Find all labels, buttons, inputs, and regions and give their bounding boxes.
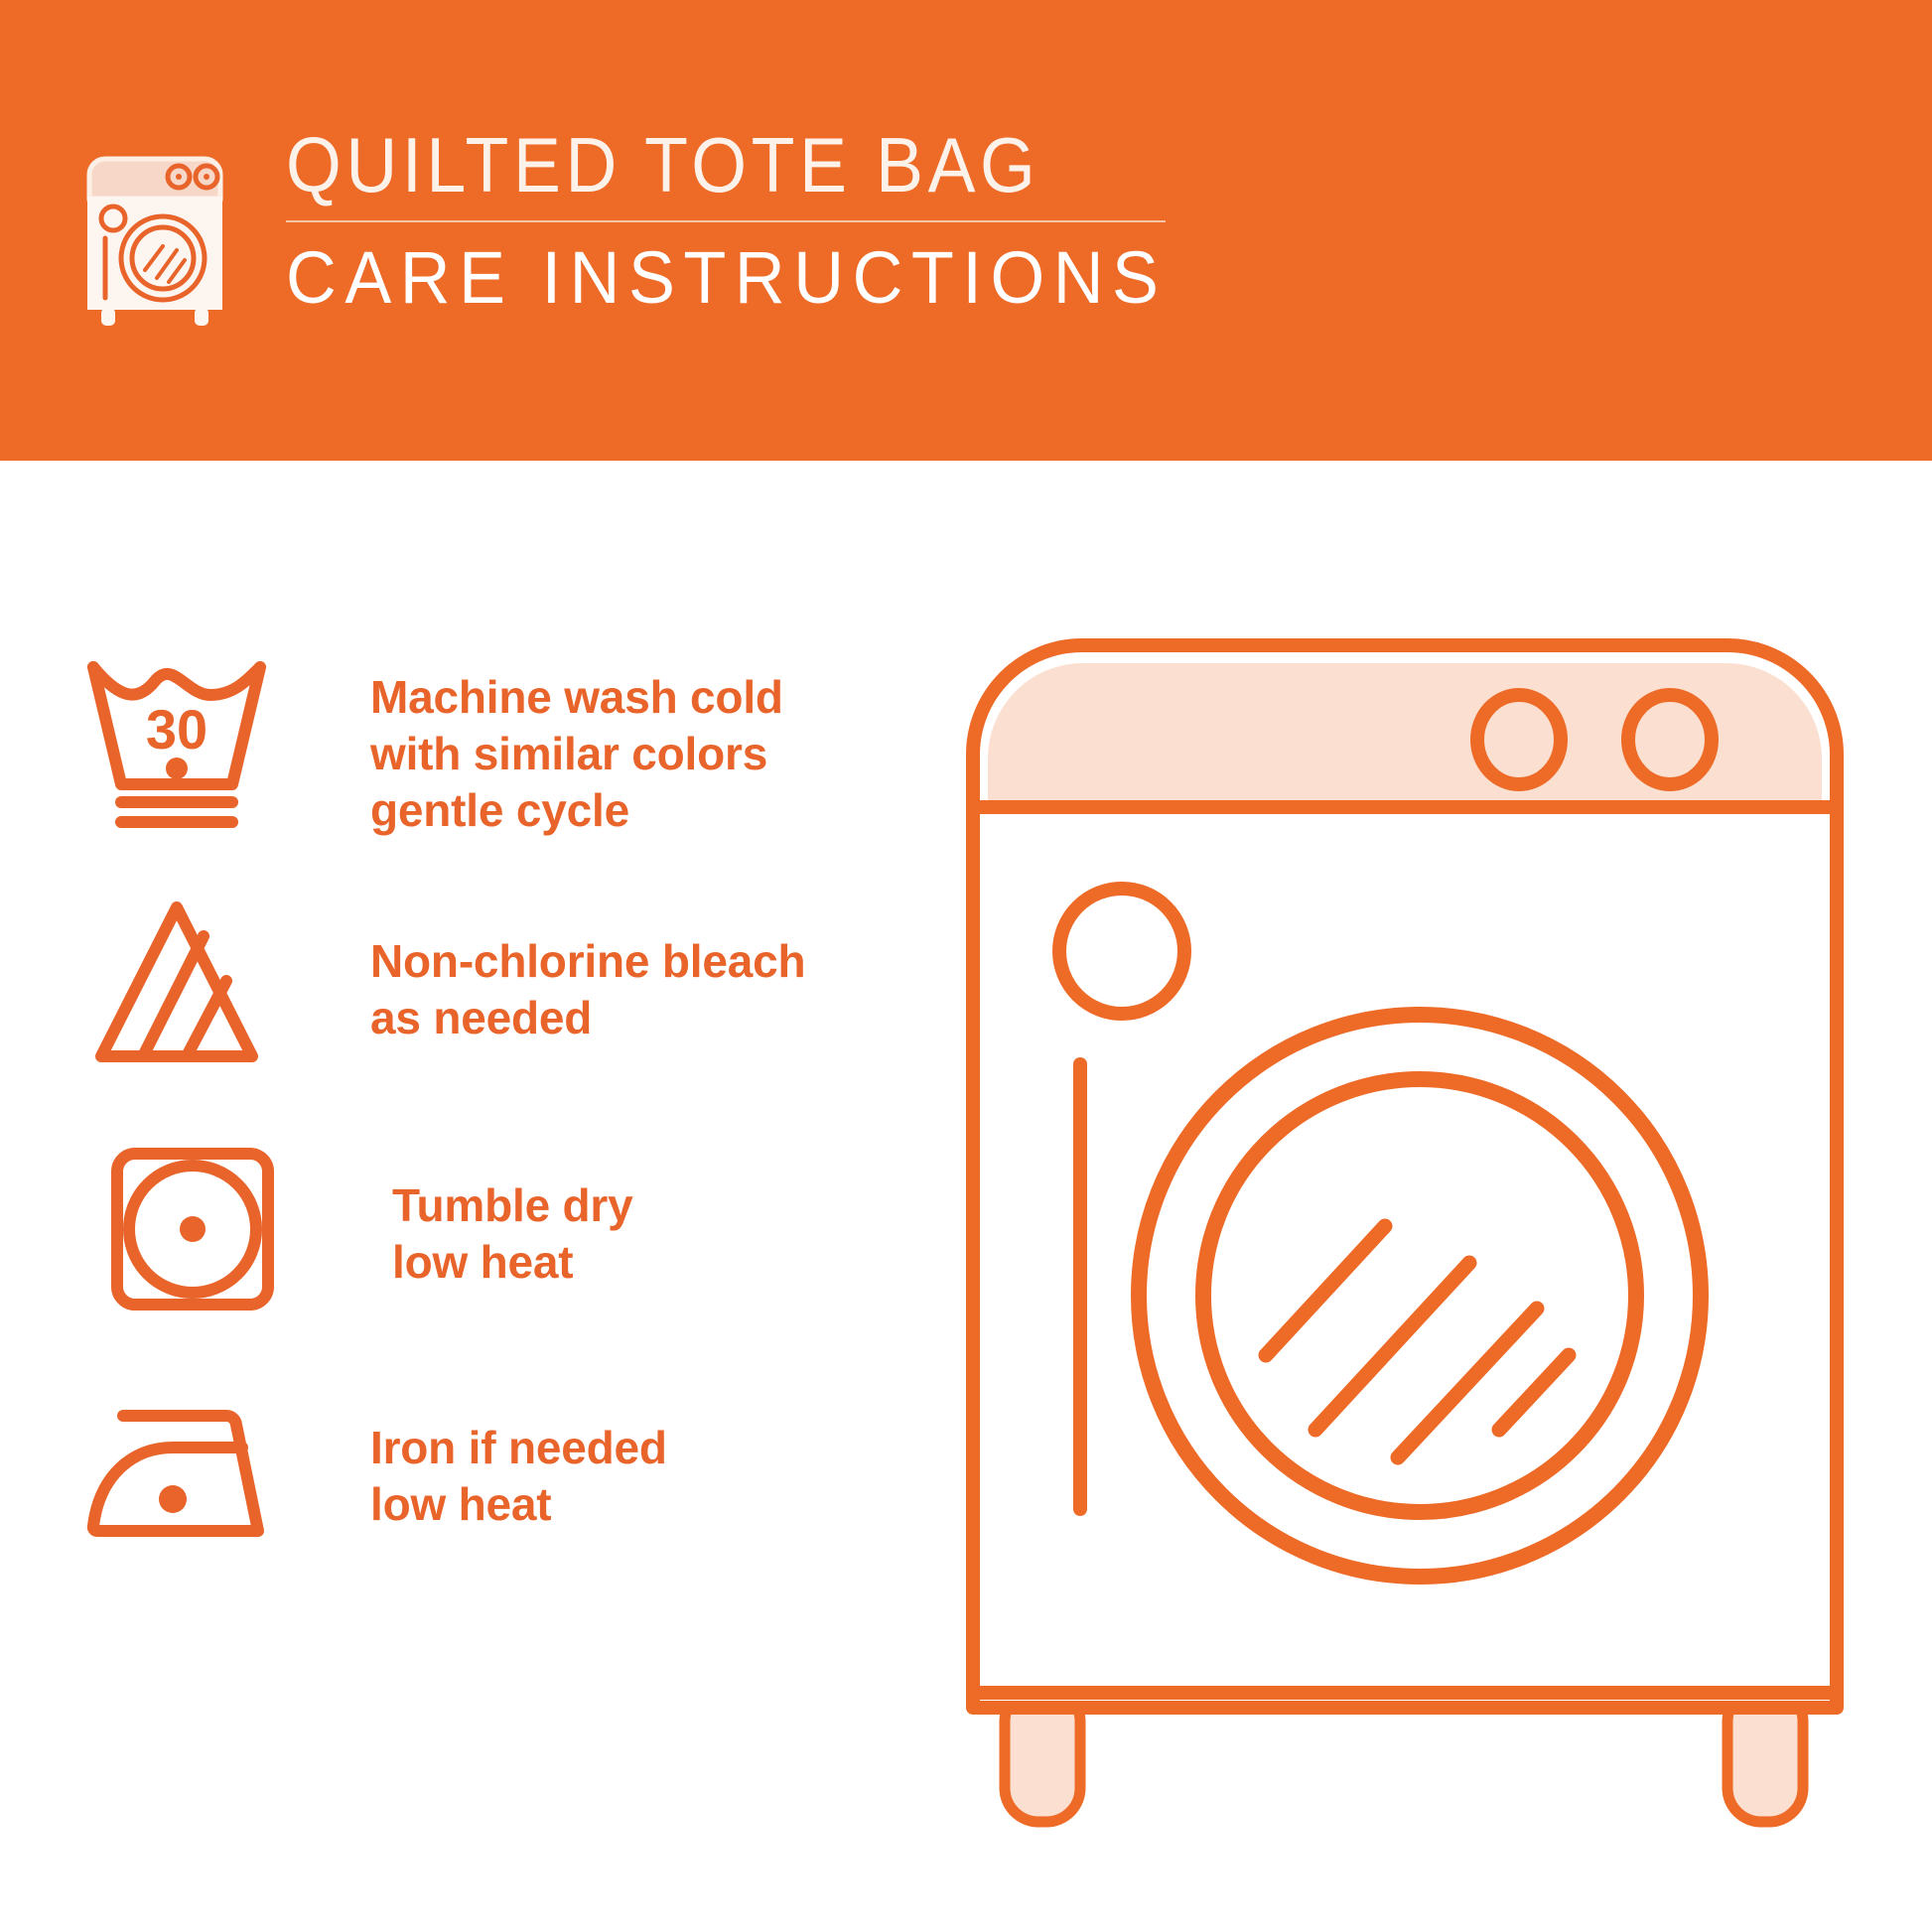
- iron-low-heat-icon: [77, 1392, 276, 1581]
- care-text-line: low heat: [392, 1234, 633, 1291]
- care-text-line: Machine wash cold: [370, 669, 783, 726]
- care-item-tumble-dry: Tumble dry low heat: [77, 1130, 921, 1372]
- care-instruction-list: 30 Machine wash cold with similar colors…: [77, 645, 921, 1614]
- care-item-tumble-dry-text: Tumble dry low heat: [392, 1177, 633, 1291]
- care-item-bleach: Non-chlorine bleach as needed: [77, 888, 921, 1130]
- care-item-iron: Iron if needed low heat: [77, 1372, 921, 1614]
- wash-temperature-label: 30: [146, 698, 207, 760]
- care-item-bleach-text: Non-chlorine bleach as needed: [370, 933, 805, 1046]
- page-title: QUILTED TOTE BAG: [286, 123, 1139, 207]
- non-chlorine-bleach-triangle-icon: [77, 894, 276, 1082]
- care-item-machine-wash: 30 Machine wash cold with similar colors…: [77, 645, 921, 888]
- care-text-line: Non-chlorine bleach: [370, 933, 805, 990]
- care-text-line: as needed: [370, 990, 805, 1046]
- care-text-line: with similar colors: [370, 726, 783, 782]
- header-content: QUILTED TOTE BAG CARE INSTRUCTIONS: [75, 123, 1213, 330]
- title-divider: [286, 220, 1166, 222]
- header-titles: QUILTED TOTE BAG CARE INSTRUCTIONS: [286, 123, 1213, 318]
- care-text-line: gentle cycle: [370, 782, 783, 839]
- page-subtitle: CARE INSTRUCTIONS: [286, 238, 1167, 318]
- care-text-line: Iron if needed: [370, 1420, 667, 1476]
- care-item-iron-text: Iron if needed low heat: [370, 1420, 667, 1533]
- care-item-machine-wash-text: Machine wash cold with similar colors ge…: [370, 669, 783, 839]
- tumble-dry-low-icon: [99, 1142, 298, 1330]
- wash-tub-30-gentle-icon: 30: [77, 645, 276, 834]
- washing-machine-illustration: [963, 635, 1857, 1857]
- header-banner: QUILTED TOTE BAG CARE INSTRUCTIONS: [0, 0, 1932, 461]
- washing-machine-logo-icon: [75, 141, 234, 330]
- care-text-line: low heat: [370, 1476, 667, 1533]
- care-text-line: Tumble dry: [392, 1177, 633, 1234]
